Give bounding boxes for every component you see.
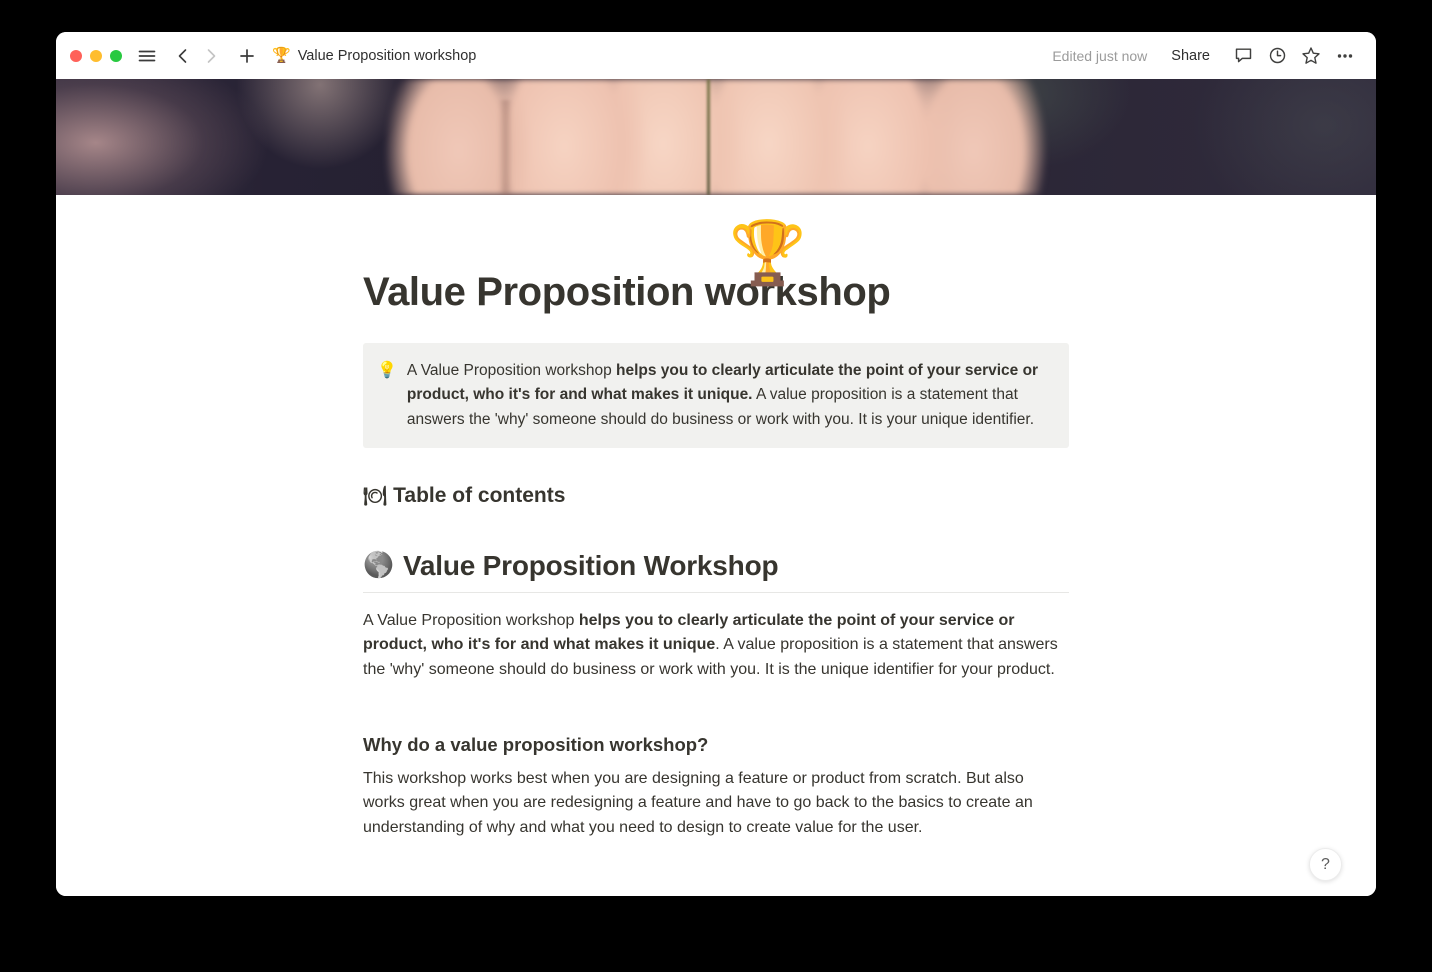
tab-title[interactable]: 🏆 Value Proposition workshop	[272, 48, 476, 64]
section-paragraph-lead: A Value Proposition workshop	[363, 612, 579, 629]
page-cover-image[interactable]	[56, 79, 1376, 195]
lightbulb-icon: 💡	[377, 359, 397, 432]
comment-icon[interactable]	[1228, 41, 1258, 71]
section-divider	[363, 592, 1069, 593]
clock-icon[interactable]	[1262, 41, 1292, 71]
app-window: 🏆 Value Proposition workshop Edited just…	[56, 32, 1376, 896]
forward-icon[interactable]	[198, 43, 224, 69]
maximize-button[interactable]	[110, 50, 122, 62]
section-heading-label: Value Proposition Workshop	[403, 550, 778, 582]
subsection-paragraph[interactable]: This workshop works best when you are de…	[363, 767, 1069, 840]
page-icon-trophy-icon[interactable]: 🏆	[729, 223, 806, 285]
share-button[interactable]: Share	[1163, 44, 1218, 68]
table-of-contents-label: Table of contents	[393, 484, 565, 508]
tab-title-label: Value Proposition workshop	[298, 48, 477, 64]
page-content: 🏆 Value Proposition workshop 💡 A Value P…	[56, 195, 1376, 896]
close-button[interactable]	[70, 50, 82, 62]
minimize-button[interactable]	[90, 50, 102, 62]
cover-shadow	[498, 100, 513, 195]
table-of-contents-heading[interactable]: 🍽 Table of contents	[363, 484, 1069, 508]
traffic-lights	[70, 50, 122, 62]
hamburger-icon[interactable]	[134, 43, 160, 69]
section-paragraph[interactable]: A Value Proposition workshop helps you t…	[363, 609, 1069, 682]
plate-icon: 🍽	[363, 484, 387, 508]
subsection-heading[interactable]: Why do a value proposition workshop?	[363, 734, 1069, 756]
callout-text: A Value Proposition workshop helps you t…	[407, 359, 1053, 432]
globe-icon: 🌎	[363, 553, 394, 578]
titlebar-actions: Edited just now Share	[1052, 41, 1360, 71]
edited-status: Edited just now	[1052, 48, 1147, 64]
help-button[interactable]: ?	[1309, 848, 1342, 881]
plus-icon[interactable]	[234, 43, 260, 69]
nav-controls	[134, 43, 260, 69]
trophy-icon: 🏆	[272, 48, 291, 63]
page-title[interactable]: Value Proposition workshop	[363, 269, 1069, 315]
callout-block[interactable]: 💡 A Value Proposition workshop helps you…	[363, 343, 1069, 448]
cover-hands	[56, 79, 1376, 195]
callout-lead: A Value Proposition workshop	[407, 362, 616, 379]
more-horizontal-icon[interactable]	[1330, 41, 1360, 71]
back-icon[interactable]	[170, 43, 196, 69]
title-bar: 🏆 Value Proposition workshop Edited just…	[56, 32, 1376, 79]
section-heading[interactable]: 🌎 Value Proposition Workshop	[363, 550, 1069, 582]
star-icon[interactable]	[1296, 41, 1326, 71]
cover-stem	[707, 79, 710, 195]
